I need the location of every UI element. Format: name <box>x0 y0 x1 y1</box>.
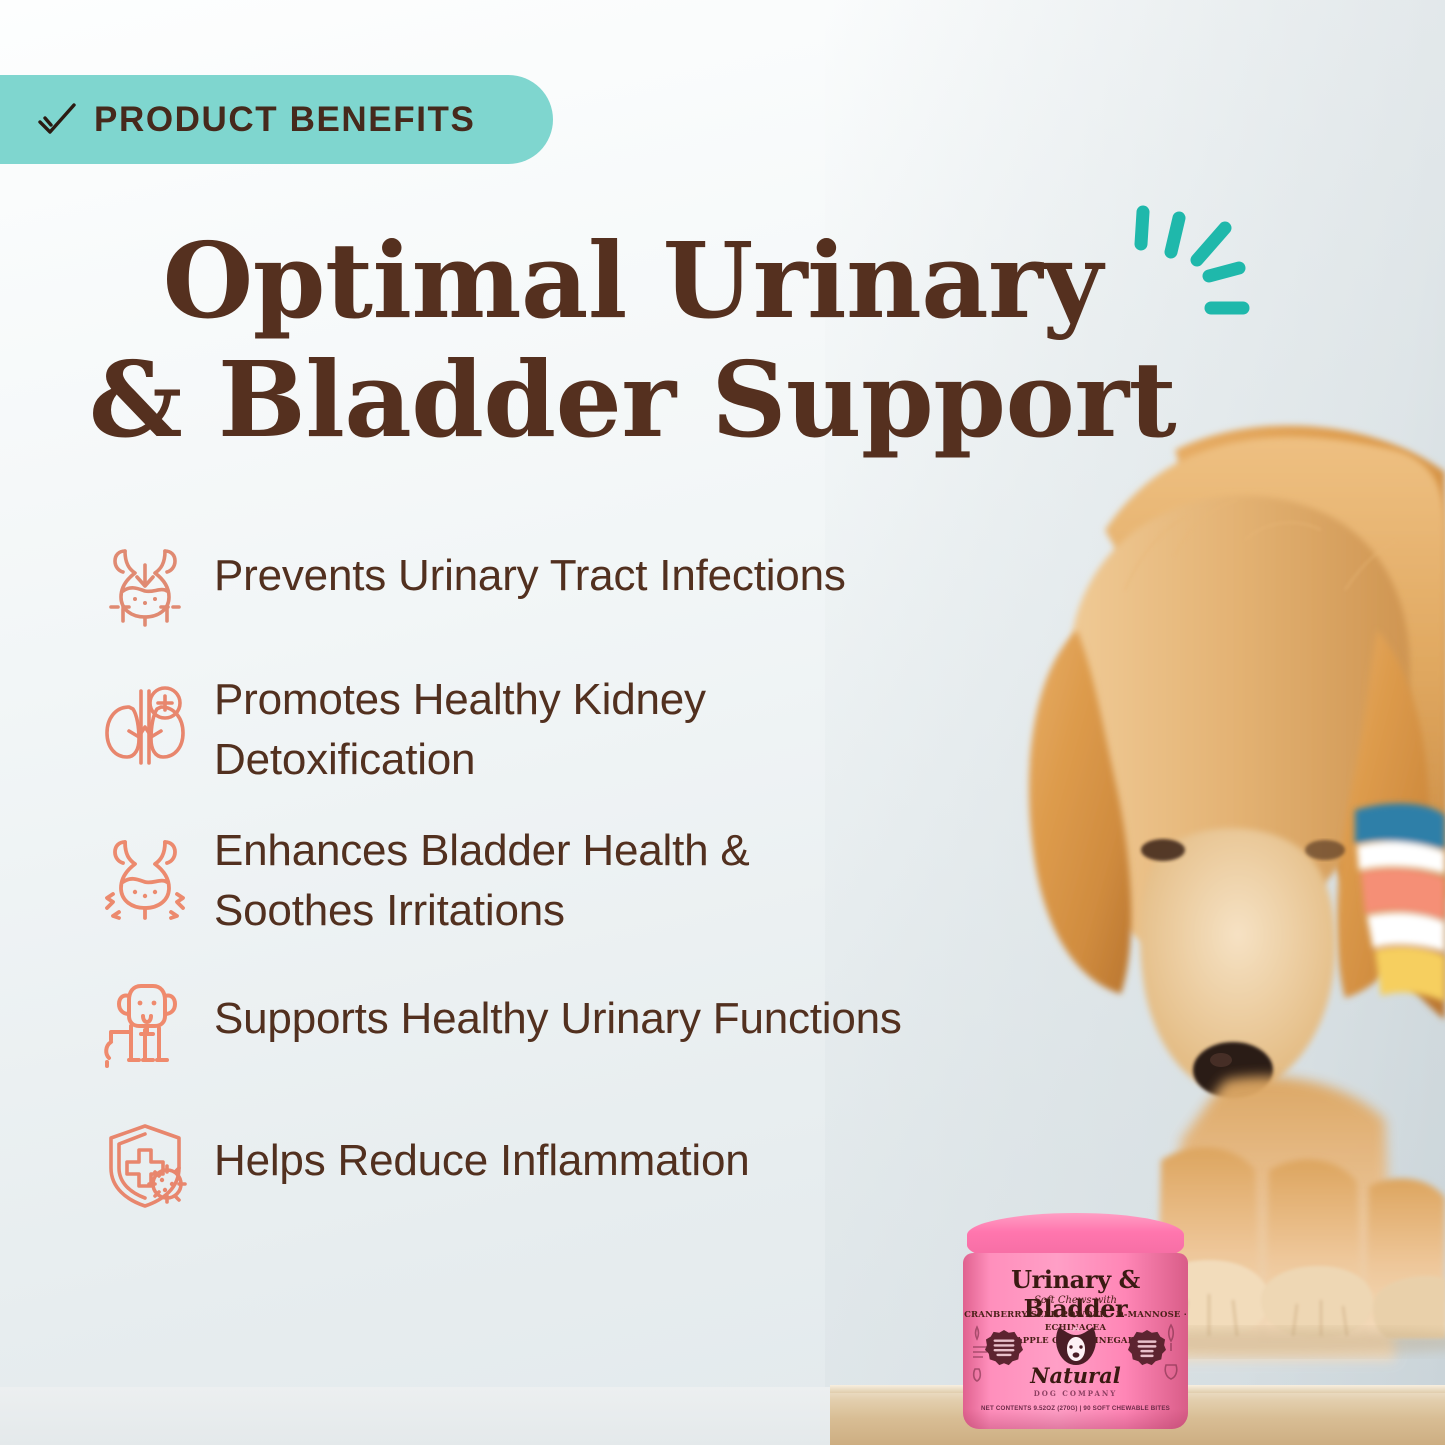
benefit-label-line: Detoxification <box>214 735 475 784</box>
benefit-row: Promotes Healthy Kidney Detoxification <box>86 662 1086 791</box>
infographic-canvas: PRODUCT BENEFITS Optimal Urinary & Bladd… <box>0 0 1445 1445</box>
benefit-label: Prevents Urinary Tract Infections <box>204 520 846 606</box>
dog-head-logo <box>1051 1325 1101 1367</box>
benefit-row: Enhances Bladder Health & Soothes Irrita… <box>86 813 1086 942</box>
benefit-row: Supports Healthy Urinary Functions <box>86 963 1086 1081</box>
benefit-label-line: Enhances Bladder Health & <box>214 826 750 875</box>
headline-line-1: Optimal Urinary <box>163 219 1103 342</box>
product-benefits-badge: PRODUCT BENEFITS <box>0 75 553 164</box>
benefit-label: Supports Healthy Urinary Functions <box>204 963 902 1049</box>
jar-brand-subtitle: DOG COMPANY <box>963 1389 1188 1398</box>
floor-left-fill <box>0 1387 830 1445</box>
benefit-label-line: Soothes Irritations <box>214 886 565 935</box>
benefit-label: Promotes Healthy Kidney Detoxification <box>204 662 706 791</box>
dog-urinating-icon <box>86 963 204 1081</box>
badge-label: PRODUCT BENEFITS <box>94 100 475 140</box>
headline-line-2: & Bladder Support <box>0 341 1265 460</box>
jar-net-contents: NET CONTENTS 9.52OZ (270G) | 90 SOFT CHE… <box>963 1405 1188 1412</box>
benefit-label: Helps Reduce Inflammation <box>204 1105 749 1191</box>
sparkle-rays-icon <box>1105 196 1285 336</box>
jar-brand-name: Natural <box>963 1363 1188 1388</box>
benefit-row: Helps Reduce Inflammation <box>86 1105 1086 1223</box>
jar-product-subtitle: Soft Chews with <box>963 1295 1188 1306</box>
benefit-row: Prevents Urinary Tract Infections <box>86 520 1086 638</box>
bladder-arrow-icon <box>86 520 204 638</box>
benefits-list: Prevents Urinary Tract Infections <box>86 520 1086 1247</box>
bladder-irritation-icon <box>86 813 204 931</box>
benefit-label-line: Promotes Healthy Kidney <box>214 675 706 724</box>
shield-germ-icon <box>86 1105 204 1223</box>
check-icon <box>34 98 78 142</box>
kidney-plus-icon <box>86 662 204 780</box>
page-title: Optimal Urinary & Bladder Support <box>0 222 1265 459</box>
benefit-label: Enhances Bladder Health & Soothes Irrita… <box>204 813 750 942</box>
